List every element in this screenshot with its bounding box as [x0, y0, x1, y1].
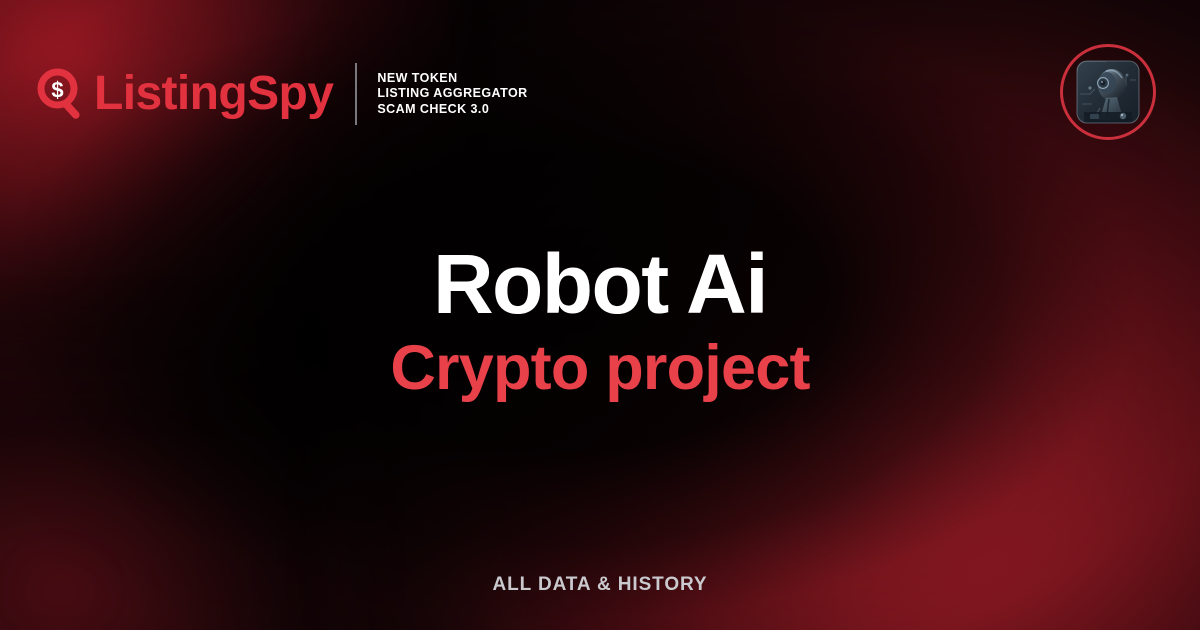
- magnifier-dollar-icon: $: [34, 66, 90, 122]
- token-category: Crypto project: [0, 332, 1200, 404]
- brand-tagline-line-1: NEW TOKEN: [377, 71, 527, 87]
- brand-wordmark-part-1: Listing: [94, 67, 247, 120]
- brand-tagline-line-3: SCAM CHECK 3.0: [377, 102, 527, 118]
- footer-note: ALL DATA & HISTORY: [0, 574, 1200, 596]
- brand-tagline-line-2: LISTING AGGREGATOR: [377, 86, 527, 102]
- brand-wordmark: ListingSpy: [94, 70, 333, 118]
- social-share-card: $ ListingSpy NEW TOKEN LISTING AGGREGATO…: [0, 0, 1200, 630]
- brand-divider: [355, 63, 357, 125]
- brand-wordmark-part-2: Spy: [247, 67, 333, 120]
- robot-head-avatar: [1076, 60, 1140, 124]
- token-name: Robot Ai: [0, 238, 1200, 330]
- brand-header[interactable]: $ ListingSpy NEW TOKEN LISTING AGGREGATO…: [34, 58, 528, 130]
- svg-text:$: $: [51, 78, 63, 103]
- brand-tagline: NEW TOKEN LISTING AGGREGATOR SCAM CHECK …: [377, 71, 527, 118]
- token-avatar-badge[interactable]: [1060, 44, 1156, 140]
- token-headline-block: Robot Ai Crypto project: [0, 238, 1200, 404]
